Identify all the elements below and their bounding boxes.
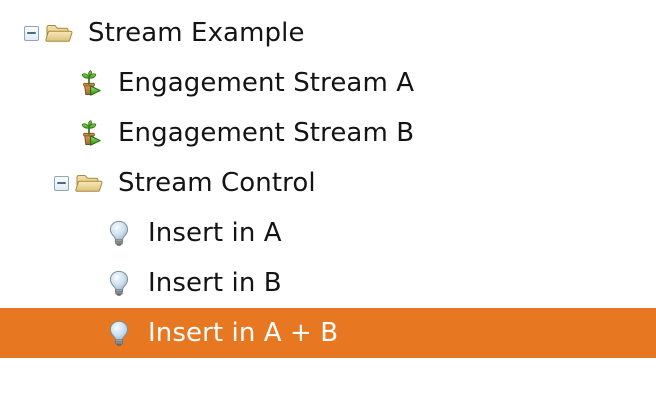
expander-placeholder [54,76,69,91]
tree-row[interactable]: Insert in A [0,208,656,258]
tree-row-label: Insert in A + B [148,318,338,348]
expander-placeholder [84,276,99,291]
process-tree[interactable]: Stream ExampleEngagement Stream AEngagem… [0,0,656,418]
lightbulb-icon [105,219,133,247]
seedling-play-icon [75,119,103,147]
open-folder-icon [45,19,73,47]
tree-row-label: Engagement Stream B [118,118,414,148]
expander-placeholder [84,226,99,241]
seedling-play-icon [75,69,103,97]
tree-row-label: Engagement Stream A [118,68,414,98]
open-folder-icon [75,169,103,197]
tree-row[interactable]: Insert in A + B [0,308,656,358]
tree-row-label: Stream Example [88,18,305,48]
expander-placeholder [84,326,99,341]
tree-row[interactable]: Stream Control [0,158,656,208]
tree-row-label: Insert in A [148,218,282,248]
expander-placeholder [54,126,69,141]
tree-row[interactable]: Engagement Stream B [0,108,656,158]
tree-row-label: Stream Control [118,168,316,198]
tree-row-label: Insert in B [148,268,282,298]
collapse-minus-icon[interactable] [24,26,39,41]
tree-row[interactable]: Stream Example [0,8,656,58]
lightbulb-icon [105,269,133,297]
collapse-minus-icon[interactable] [54,176,69,191]
lightbulb-icon [105,319,133,347]
tree-row[interactable]: Engagement Stream A [0,58,656,108]
tree-row[interactable]: Insert in B [0,258,656,308]
